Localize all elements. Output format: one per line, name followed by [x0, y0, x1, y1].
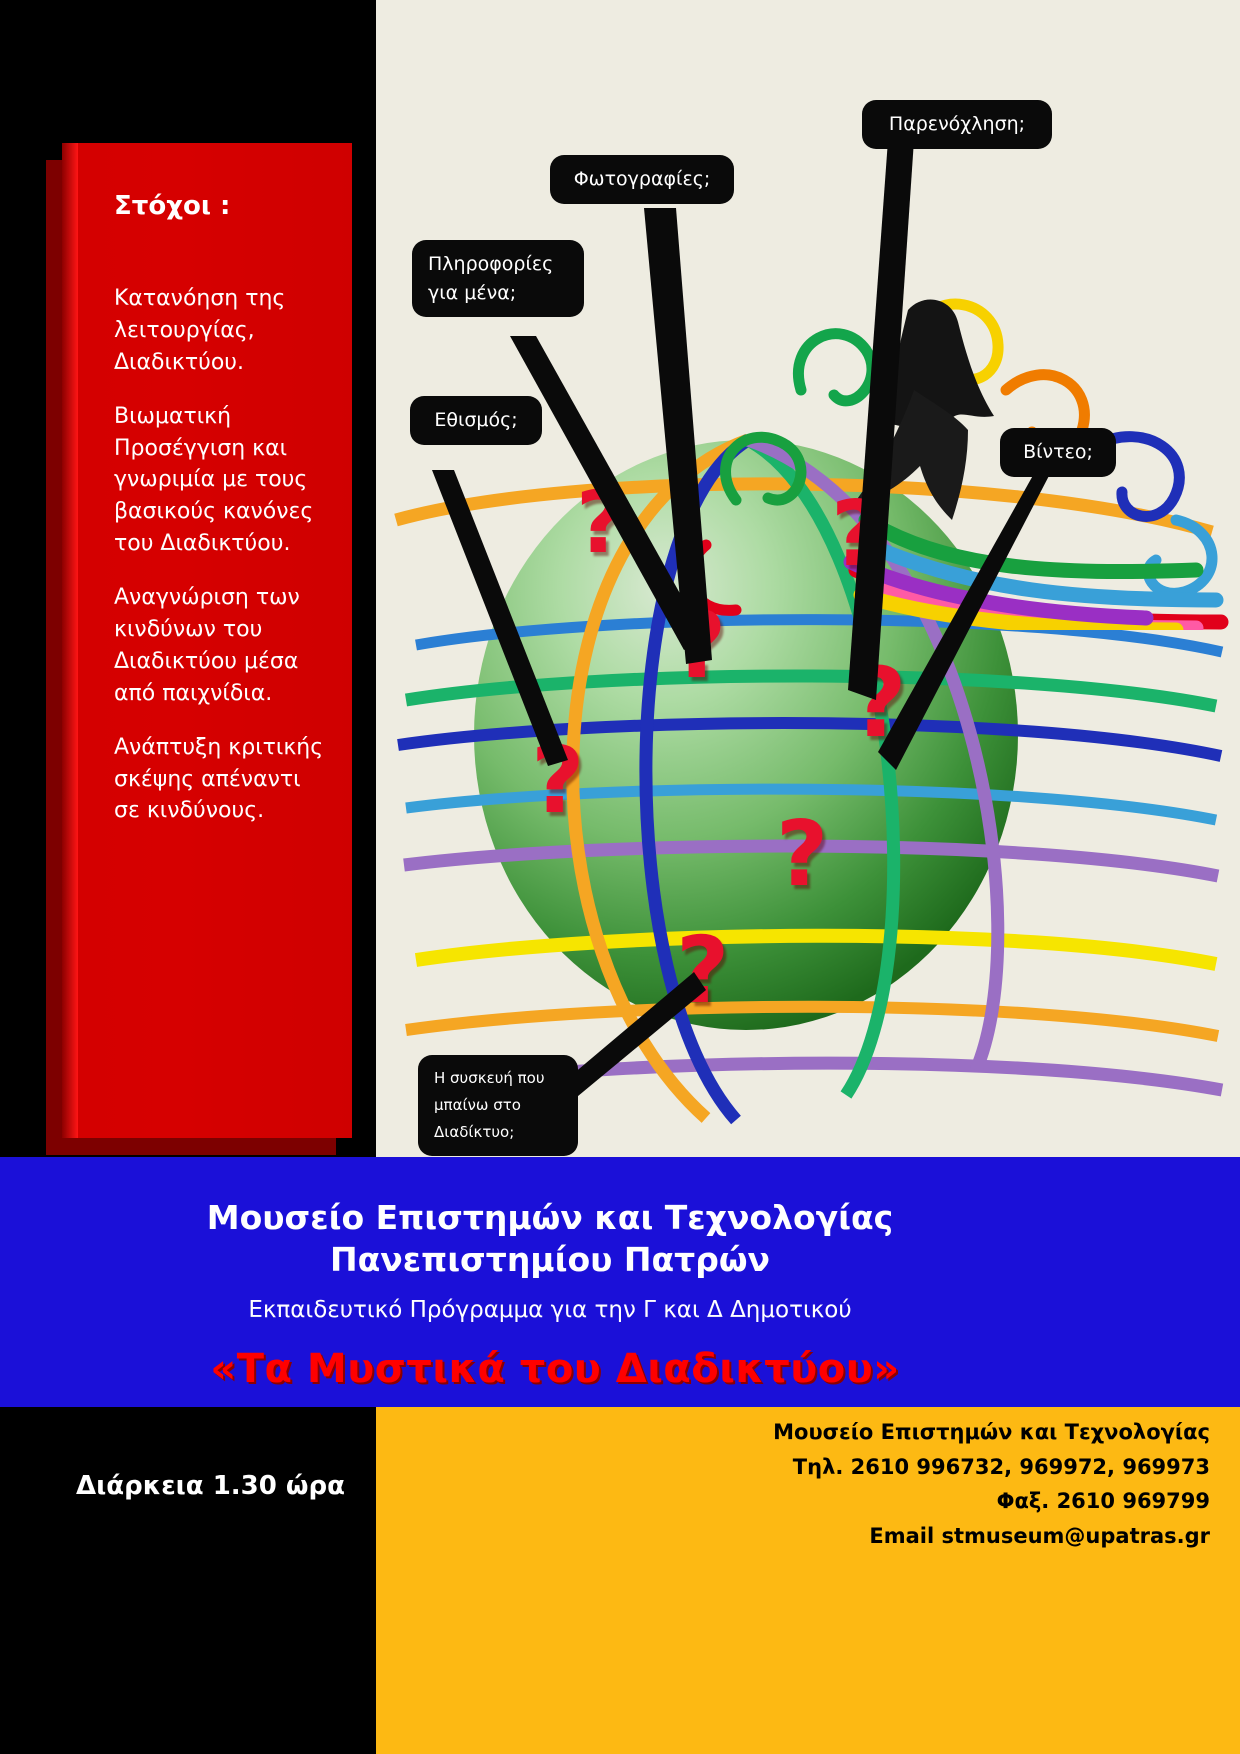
- objectives-panel-bevel: [62, 143, 78, 1138]
- duration-label: Διάρκεια 1.30 ώρα: [76, 1471, 376, 1501]
- callout-video[interactable]: Βίντεο;: [1000, 428, 1116, 477]
- program-subtitle: Εκπαιδευτικό Πρόγραμμα για την Γ και Δ Δ…: [0, 1297, 1100, 1323]
- objective-item: Αναγνώριση των κινδύνων του Διαδικτύου μ…: [114, 582, 326, 710]
- contact-line-fax: Φαξ. 2610 969799: [510, 1484, 1210, 1519]
- objectives-title: Στόχοι :: [114, 191, 344, 221]
- poster-root: ? ? ? ? ? ? ? Εθισμός; Πληροφορίες για μ…: [0, 0, 1240, 1754]
- objectives-panel: Στόχοι : Κατανόηση της λειτουργίας, Διαδ…: [62, 143, 352, 1138]
- museum-title-line2: Πανεπιστημίου Πατρών: [0, 1239, 1100, 1281]
- contact-line-email[interactable]: Email stmuseum@upatras.gr: [510, 1519, 1210, 1554]
- callout-plirofories[interactable]: Πληροφορίες για μένα;: [412, 240, 584, 317]
- contact-box: Μουσείο Επιστημών και Τεχνολογίας Τηλ. 2…: [376, 1407, 1240, 1754]
- program-title: «Τα Μυστικά του Διαδικτύου»: [0, 1346, 1110, 1392]
- contact-line-phone: Τηλ. 2610 996732, 969972, 969973: [510, 1450, 1210, 1485]
- museum-title: Μουσείο Επιστημών και Τεχνολογίας Πανεπι…: [0, 1197, 1100, 1281]
- objective-item: Ανάπτυξη κριτικής σκέψης απέναντι σε κιν…: [114, 732, 326, 828]
- objective-item: Βιωματική Προσέγγιση και γνωριμία με του…: [114, 401, 326, 560]
- callout-parenochlisi[interactable]: Παρενόχληση;: [862, 100, 1052, 149]
- objective-item: Κατανόηση της λειτουργίας, Διαδικτύου.: [114, 283, 326, 379]
- contact-details: Μουσείο Επιστημών και Τεχνολογίας Τηλ. 2…: [510, 1415, 1210, 1554]
- objectives-list: Κατανόηση της λειτουργίας, Διαδικτύου. Β…: [114, 283, 326, 849]
- callout-stems: [376, 0, 1240, 1157]
- museum-title-line1: Μουσείο Επιστημών και Τεχνολογίας: [0, 1197, 1100, 1239]
- callout-siskevi[interactable]: Η συσκευή που μπαίνω στο Διαδίκτυο;: [418, 1055, 578, 1156]
- contact-line-museum: Μουσείο Επιστημών και Τεχνολογίας: [510, 1415, 1210, 1450]
- illustration-panel: ? ? ? ? ? ? ?: [376, 0, 1240, 1157]
- callout-ethismos[interactable]: Εθισμός;: [410, 396, 542, 445]
- callout-fotografies[interactable]: Φωτογραφίες;: [550, 155, 734, 204]
